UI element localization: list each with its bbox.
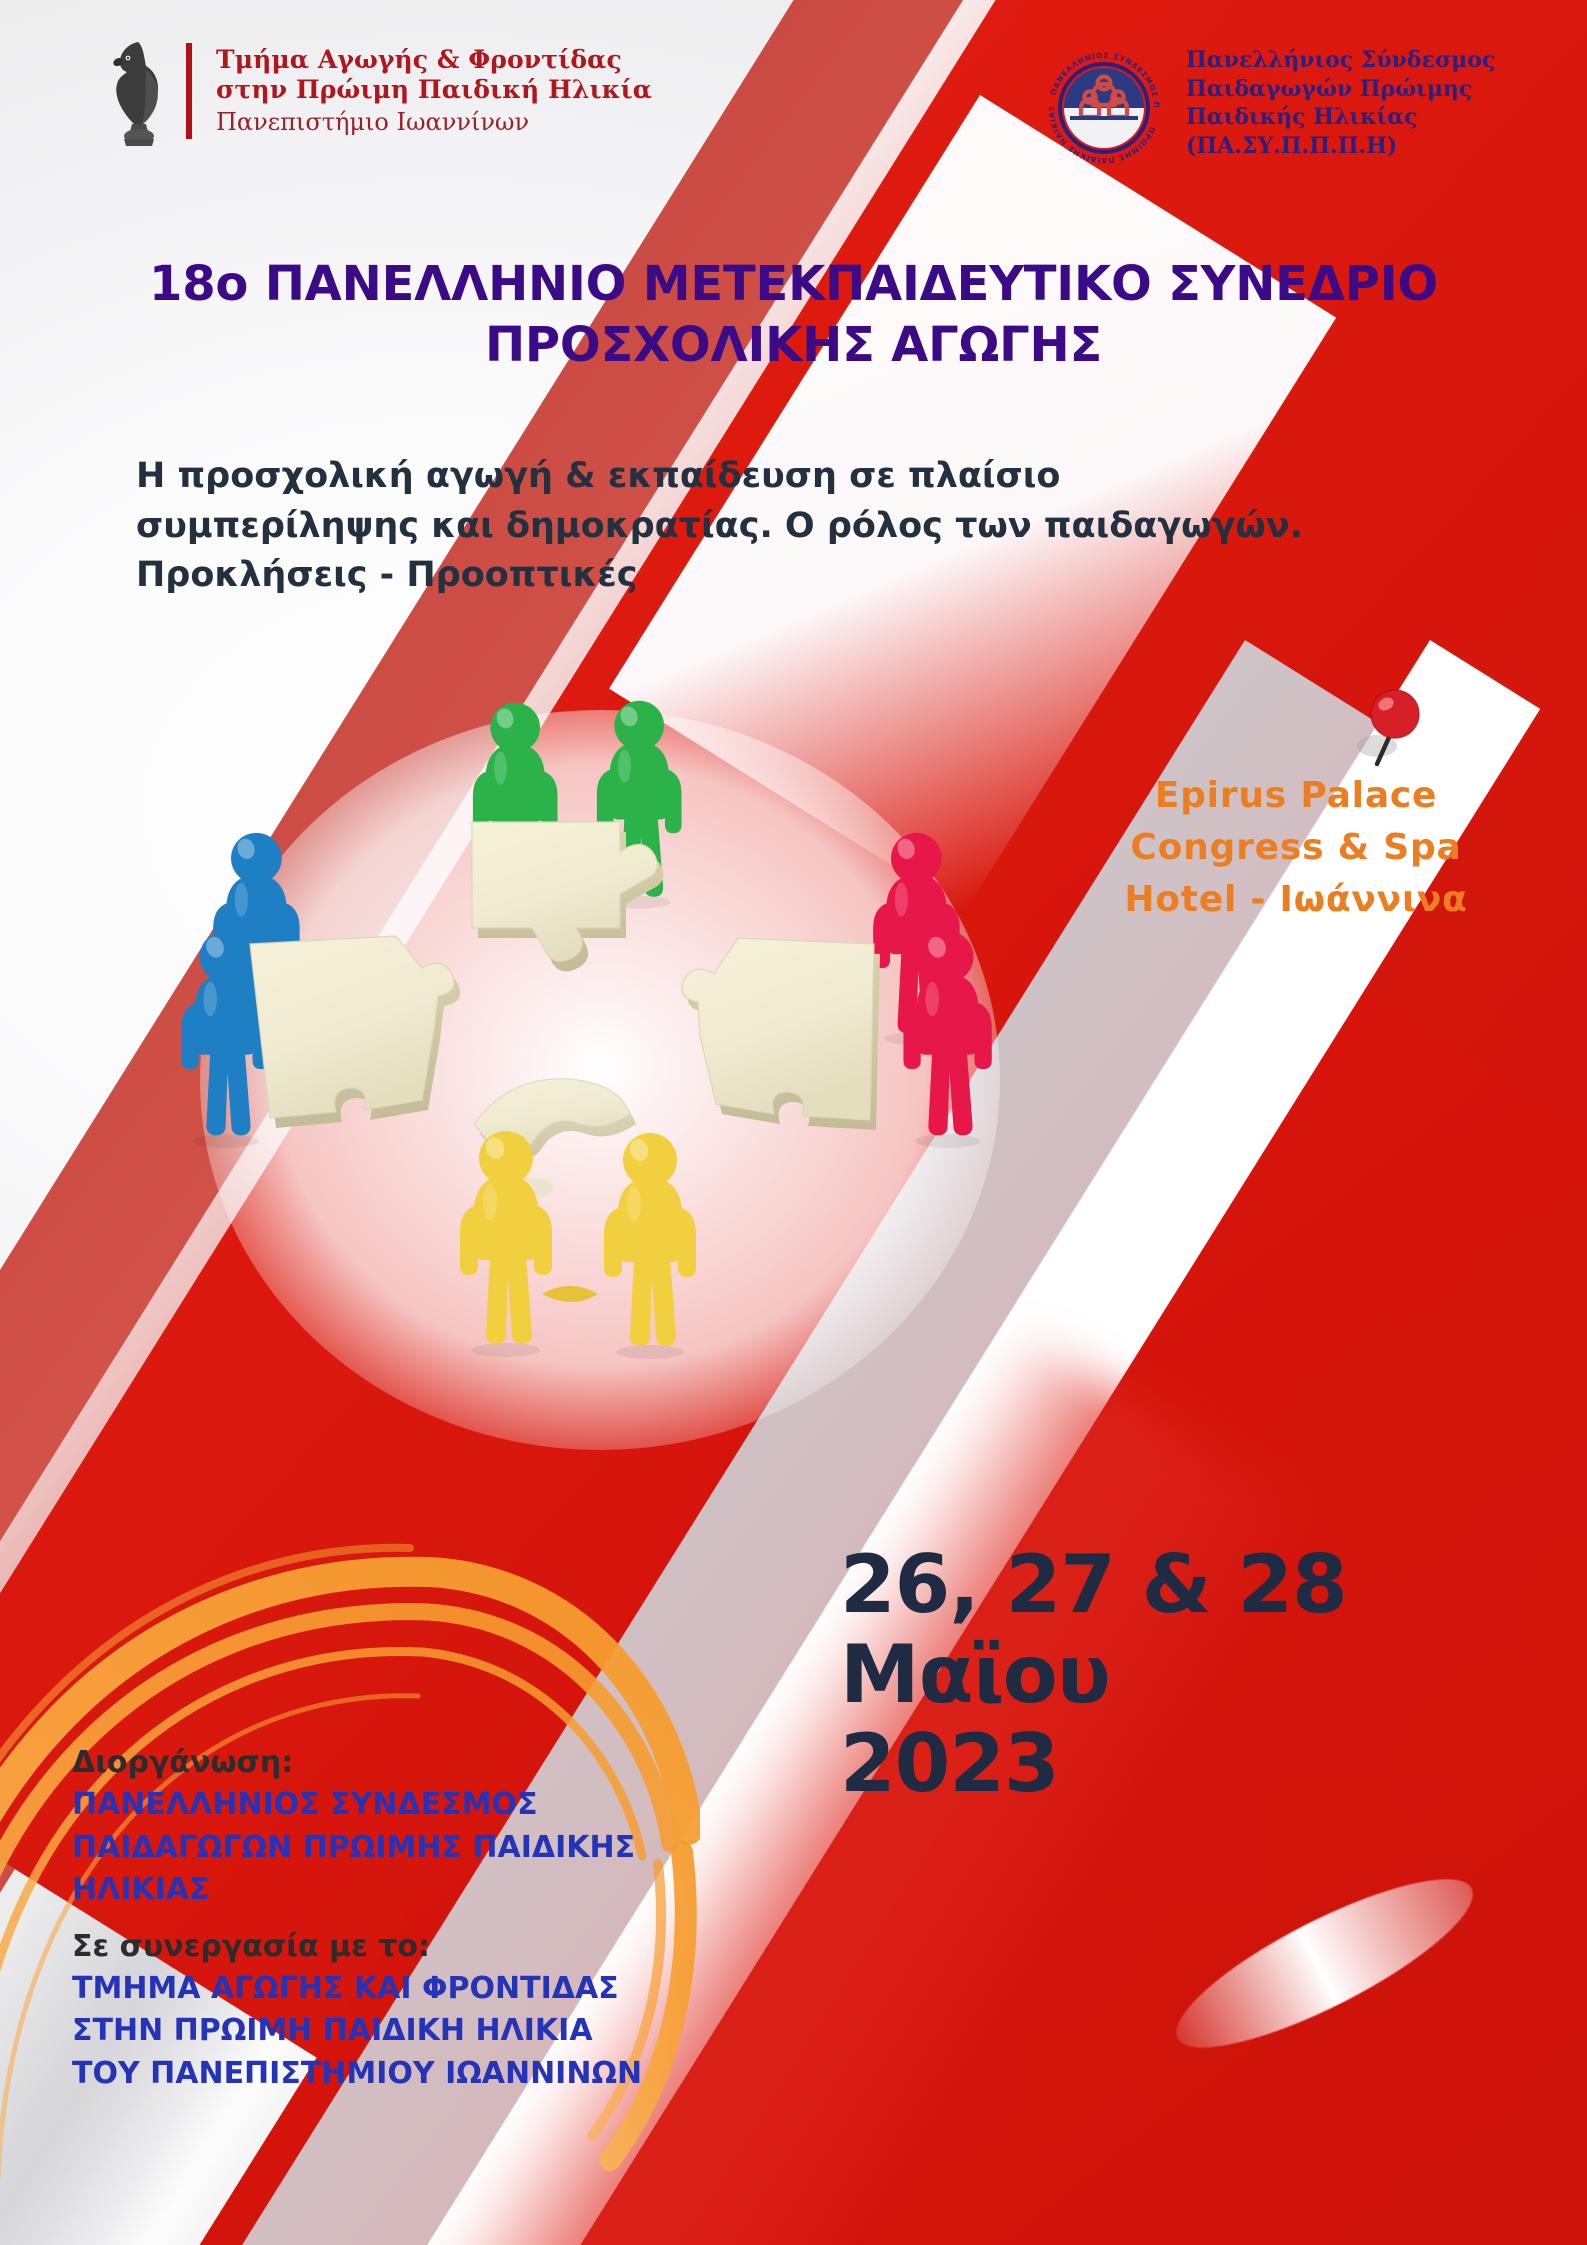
subtitle-line-2: συμπερίληψης και δημοκρατίας. Ο ρόλος τω… — [136, 502, 1246, 552]
title-line-1: 18ο ΠΑΝΕΛΛΗΝΙΟ ΜΕΤΕΚΠΑΙΔΕΥΤΙΚΟ ΣΥΝΕΔΡΙΟ — [70, 256, 1517, 313]
university-logo-text: Τμήμα Αγωγής & Φροντίδας στην Πρώιμη Παι… — [216, 45, 652, 137]
event-date: 26, 27 & 28 Μαϊου 2023 — [840, 1540, 1347, 1809]
date-month: Μαϊου — [840, 1630, 1347, 1720]
uoi-line-1: Τμήμα Αγωγής & Φροντίδας — [216, 45, 652, 76]
subtitle-line-1: Η προσχολική αγωγή & εκπαίδευση σε πλαίσ… — [136, 452, 1246, 502]
pasyppi-line-1: Πανελλήνιος Σύνδεσμος — [1186, 46, 1495, 75]
pasyppi-logo: ΠΑΝΕΛΛΗΝΙΟΣ ΣΥΝΔΕΣΜΟΣ ΠΑΙΔΑΓΩΓΩΝ ΠΡΩΙΜΗΣ… — [1038, 42, 1495, 174]
venue-line-3: Hotel - Ιωάννινα — [1096, 874, 1496, 926]
pasyppi-line-2: Παιδαγωγών Πρώιμης — [1186, 75, 1495, 104]
white-lens-shape — [1158, 1850, 1491, 2076]
eagle-icon — [108, 36, 170, 146]
title-line-2: ΠΡΟΣΧΟΛΙΚΗΣ ΑΓΩΓΗΣ — [70, 317, 1517, 374]
pasyppi-emblem-icon: ΠΑΝΕΛΛΗΝΙΟΣ ΣΥΝΔΕΣΜΟΣ ΠΑΙΔΑΓΩΓΩΝ ΠΡΩΙΜΗΣ… — [1038, 42, 1170, 174]
uoi-line-3: Πανεπιστήμιο Ιωαννίνων — [216, 108, 652, 137]
organiser-spacer — [72, 1912, 772, 1926]
pasyppi-logo-text: Πανελλήνιος Σύνδεσμος Παιδαγωγών Πρώιμης… — [1186, 42, 1495, 160]
organiser-line-1: ΠΑΝΕΛΛΗΝΙΟΣ ΣΥΝΔΕΣΜΟΣ — [72, 1784, 772, 1827]
uoi-line-2: στην Πρώιμη Παιδική Ηλικία — [216, 75, 652, 106]
map-pin-icon — [1347, 680, 1427, 780]
conference-poster: Τμήμα Αγωγής & Φροντίδας στην Πρώιμη Παι… — [0, 0, 1587, 2245]
partner-line-2: ΣΤΗΝ ΠΡΩΙΜΗ ΠΑΙΔΙΚΗ ΗΛΙΚΙΑ — [72, 2010, 772, 2053]
partner-line-1: ΤΜΗΜΑ ΑΓΩΓΗΣ ΚΑΙ ΦΡΟΝΤΙΔΑΣ — [72, 1968, 772, 2011]
organiser-line-3: ΗΛΙΚΙΑΣ — [72, 1869, 772, 1912]
venue-block: Epirus Palace Congress & Spa Hotel - Ιωά… — [1096, 770, 1496, 925]
pasyppi-line-3: Παιδικής Ηλικίας — [1186, 103, 1495, 132]
organiser-line-2: ΠΑΙΔΑΓΩΓΩΝ ΠΡΩΙΜΗΣ ΠΑΙΔΙΚΗΣ — [72, 1827, 772, 1870]
subtitle-line-3: Προκλήσεις - Προοπτικές — [136, 551, 1246, 601]
partner-line-3: ΤΟΥ ΠΑΝΕΠΙΣΤΗΜΙΟΥ ΙΩΑΝΝΙΝΩΝ — [72, 2053, 772, 2096]
venue-line-1: Epirus Palace — [1096, 770, 1496, 822]
page-subtitle: Η προσχολική αγωγή & εκπαίδευση σε πλαίσ… — [136, 452, 1246, 601]
partner-label: Σε συνεργασία με το: — [72, 1926, 772, 1968]
logo-red-rule — [186, 43, 192, 139]
organisers-block: Διοργάνωση: ΠΑΝΕΛΛΗΝΙΟΣ ΣΥΝΔΕΣΜΟΣ ΠΑΙΔΑΓ… — [72, 1742, 772, 2096]
date-days: 26, 27 & 28 — [840, 1540, 1347, 1630]
date-year: 2023 — [840, 1719, 1347, 1809]
page-title: 18ο ΠΑΝΕΛΛΗΝΙΟ ΜΕΤΕΚΠΑΙΔΕΥΤΙΚΟ ΣΥΝΕΔΡΙΟ … — [0, 256, 1587, 373]
venue-line-2: Congress & Spa — [1096, 822, 1496, 874]
pasyppi-line-4: (ΠΑ.ΣΥ.Π.Π.Π.Η) — [1186, 132, 1495, 161]
university-of-ioannina-logo: Τμήμα Αγωγής & Φροντίδας στην Πρώιμη Παι… — [108, 36, 652, 146]
teamwork-puzzle-illustration — [160, 660, 1040, 1530]
organiser-label: Διοργάνωση: — [72, 1742, 772, 1784]
